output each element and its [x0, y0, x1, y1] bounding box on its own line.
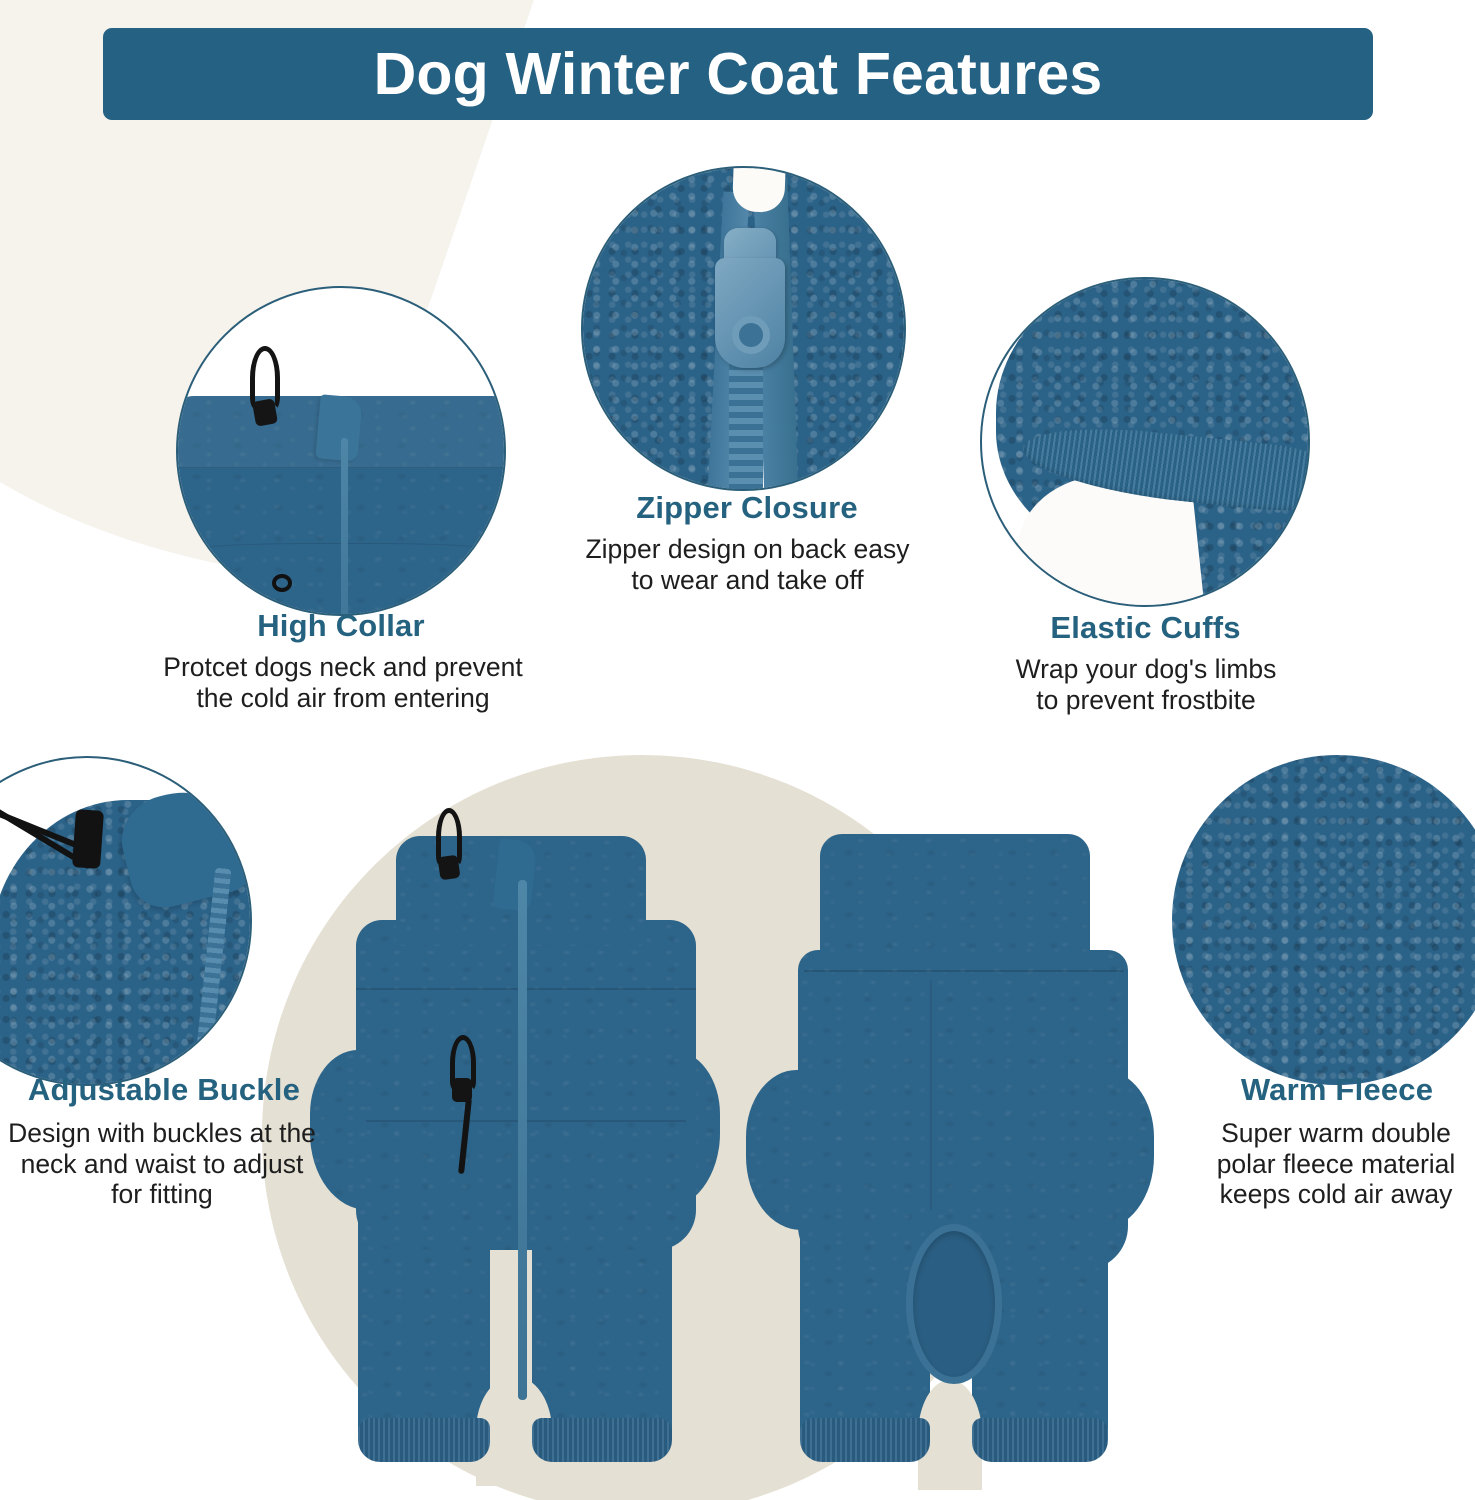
back-center-seam [930, 980, 932, 1210]
zipper-teeth [729, 358, 763, 491]
buckle-cord-lock [72, 809, 104, 869]
back-body-panel [798, 950, 1128, 1270]
back-yoke-seam [804, 970, 1124, 972]
lower-cord-loop [272, 574, 292, 592]
dog-coat-front-view [300, 820, 730, 1480]
page-title: Dog Winter Coat Features [374, 45, 1103, 104]
feature-title-high-collar: High Collar [135, 608, 547, 644]
feature-title-elastic-cuffs: Elastic Cuffs [968, 610, 1323, 646]
title-banner: Dog Winter Coat Features [103, 28, 1373, 120]
front-zipper-flap [492, 838, 537, 912]
elastic-cuffs-photo-circle [980, 277, 1310, 607]
back-cuff-left [800, 1418, 930, 1462]
back-cuff-right [972, 1418, 1108, 1462]
feature-desc-zipper-closure: Zipper design on back easy to wear and t… [540, 534, 955, 595]
feature-title-zipper-closure: Zipper Closure [562, 490, 932, 526]
cord-toggle [252, 398, 278, 426]
feature-title-warm-fleece: Warm Fleece [1178, 1072, 1475, 1108]
zipper-closure-photo-circle [581, 166, 906, 491]
front-neck-cord-lock [437, 855, 460, 881]
dog-coat-back-view [740, 820, 1160, 1480]
feature-title-adjustable-buckle: Adjustable Buckle [10, 1072, 318, 1108]
warm-fleece-photo-circle [1172, 755, 1475, 1085]
front-zipper-line [518, 880, 527, 1400]
front-cuff-right [532, 1418, 672, 1462]
fleece-texture-swatch [1172, 755, 1475, 1085]
feature-desc-warm-fleece: Super warm double polar fleece material … [1172, 1118, 1475, 1210]
adjustable-buckle-photo-circle [0, 756, 252, 1086]
back-yoke-panel [820, 834, 1090, 974]
high-collar-photo-circle [176, 286, 506, 616]
zipper-flap [315, 394, 362, 461]
feature-desc-high-collar: Protcet dogs neck and prevent the cold a… [118, 652, 568, 713]
back-tail-hole [906, 1224, 1002, 1384]
zipper-line [341, 438, 348, 616]
feature-desc-adjustable-buckle: Design with buckles at the neck and wais… [2, 1118, 322, 1210]
feature-desc-elastic-cuffs: Wrap your dog's limbs to prevent frostbi… [950, 654, 1342, 715]
dog-winter-coat-infographic: Dog Winter Coat Features High Collar Pro… [0, 0, 1475, 1500]
zipper-pull-hole [732, 316, 770, 354]
front-cuff-left [358, 1418, 490, 1462]
